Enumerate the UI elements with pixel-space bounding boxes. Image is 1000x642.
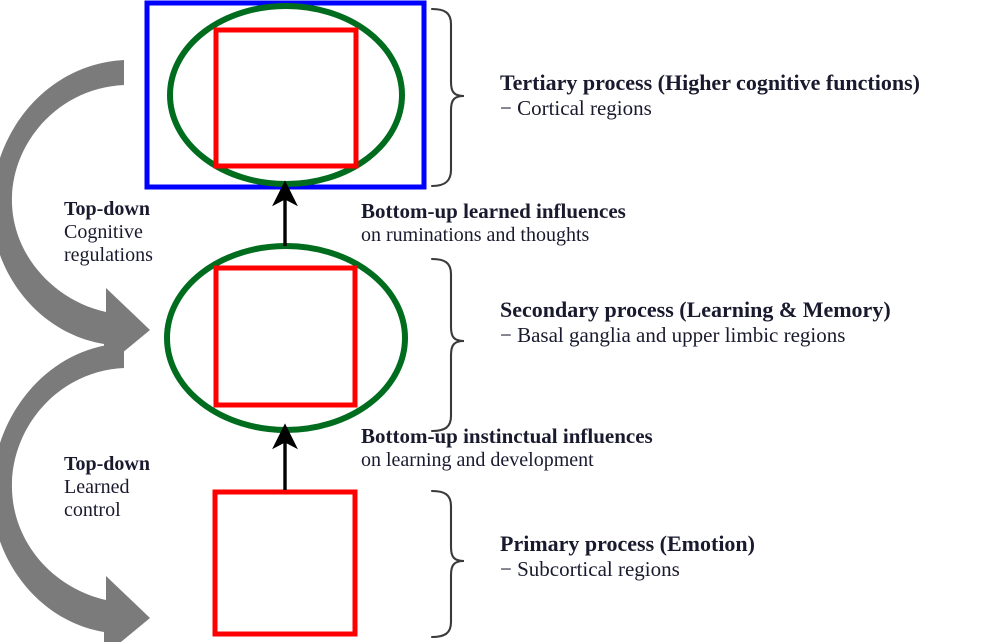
top-down-label-cognitive: Top-down Cognitive regulations <box>64 198 153 267</box>
tier-label-secondary: Secondary process (Learning & Memory) − … <box>500 297 891 348</box>
tier-title-secondary: Secondary process (Learning & Memory) <box>500 297 891 323</box>
tier-title-primary: Primary process (Emotion) <box>500 531 755 557</box>
top-down-line2-cognitive: Cognitive <box>64 221 143 243</box>
bracket-primary <box>432 491 464 637</box>
tertiary-process-ellipse <box>170 6 402 184</box>
bottom-up-subtitle-instinctual: on learning and development <box>361 449 594 471</box>
tier-label-primary: Primary process (Emotion) − Subcortical … <box>500 531 755 582</box>
tier-title-tertiary: Tertiary process (Higher cognitive funct… <box>500 70 920 96</box>
top-down-title-cognitive: Top-down <box>64 198 150 220</box>
primary-process-square <box>215 492 355 634</box>
tier-subtitle-secondary: − Basal ganglia and upper limbic regions <box>500 323 891 348</box>
bottom-up-label-learned: Bottom-up learned influences on ruminati… <box>361 199 626 247</box>
top-down-line3-cognitive: regulations <box>64 244 153 266</box>
tier-label-tertiary: Tertiary process (Higher cognitive funct… <box>500 70 920 121</box>
diagram-canvas: Tertiary process (Higher cognitive funct… <box>0 0 1000 642</box>
secondary-process-square <box>216 268 355 405</box>
bottom-up-title-instinctual: Bottom-up instinctual influences <box>361 424 653 448</box>
bottom-up-subtitle-learned: on ruminations and thoughts <box>361 224 589 246</box>
bracket-secondary <box>432 259 464 431</box>
bottom-up-title-learned: Bottom-up learned influences <box>361 199 626 223</box>
tier-subtitle-primary: − Subcortical regions <box>500 557 755 582</box>
tier-subtitle-tertiary: − Cortical regions <box>500 96 920 121</box>
bottom-up-label-instinctual: Bottom-up instinctual influences on lear… <box>361 424 653 472</box>
bracket-tertiary <box>432 9 464 186</box>
top-down-line3-learned-control: control <box>64 499 121 521</box>
tertiary-process-square <box>216 30 356 166</box>
top-down-label-learned-control: Top-down Learned control <box>64 453 150 522</box>
top-down-title-learned-control: Top-down <box>64 453 150 475</box>
top-down-line2-learned-control: Learned <box>64 476 130 498</box>
secondary-process-ellipse <box>167 246 405 430</box>
